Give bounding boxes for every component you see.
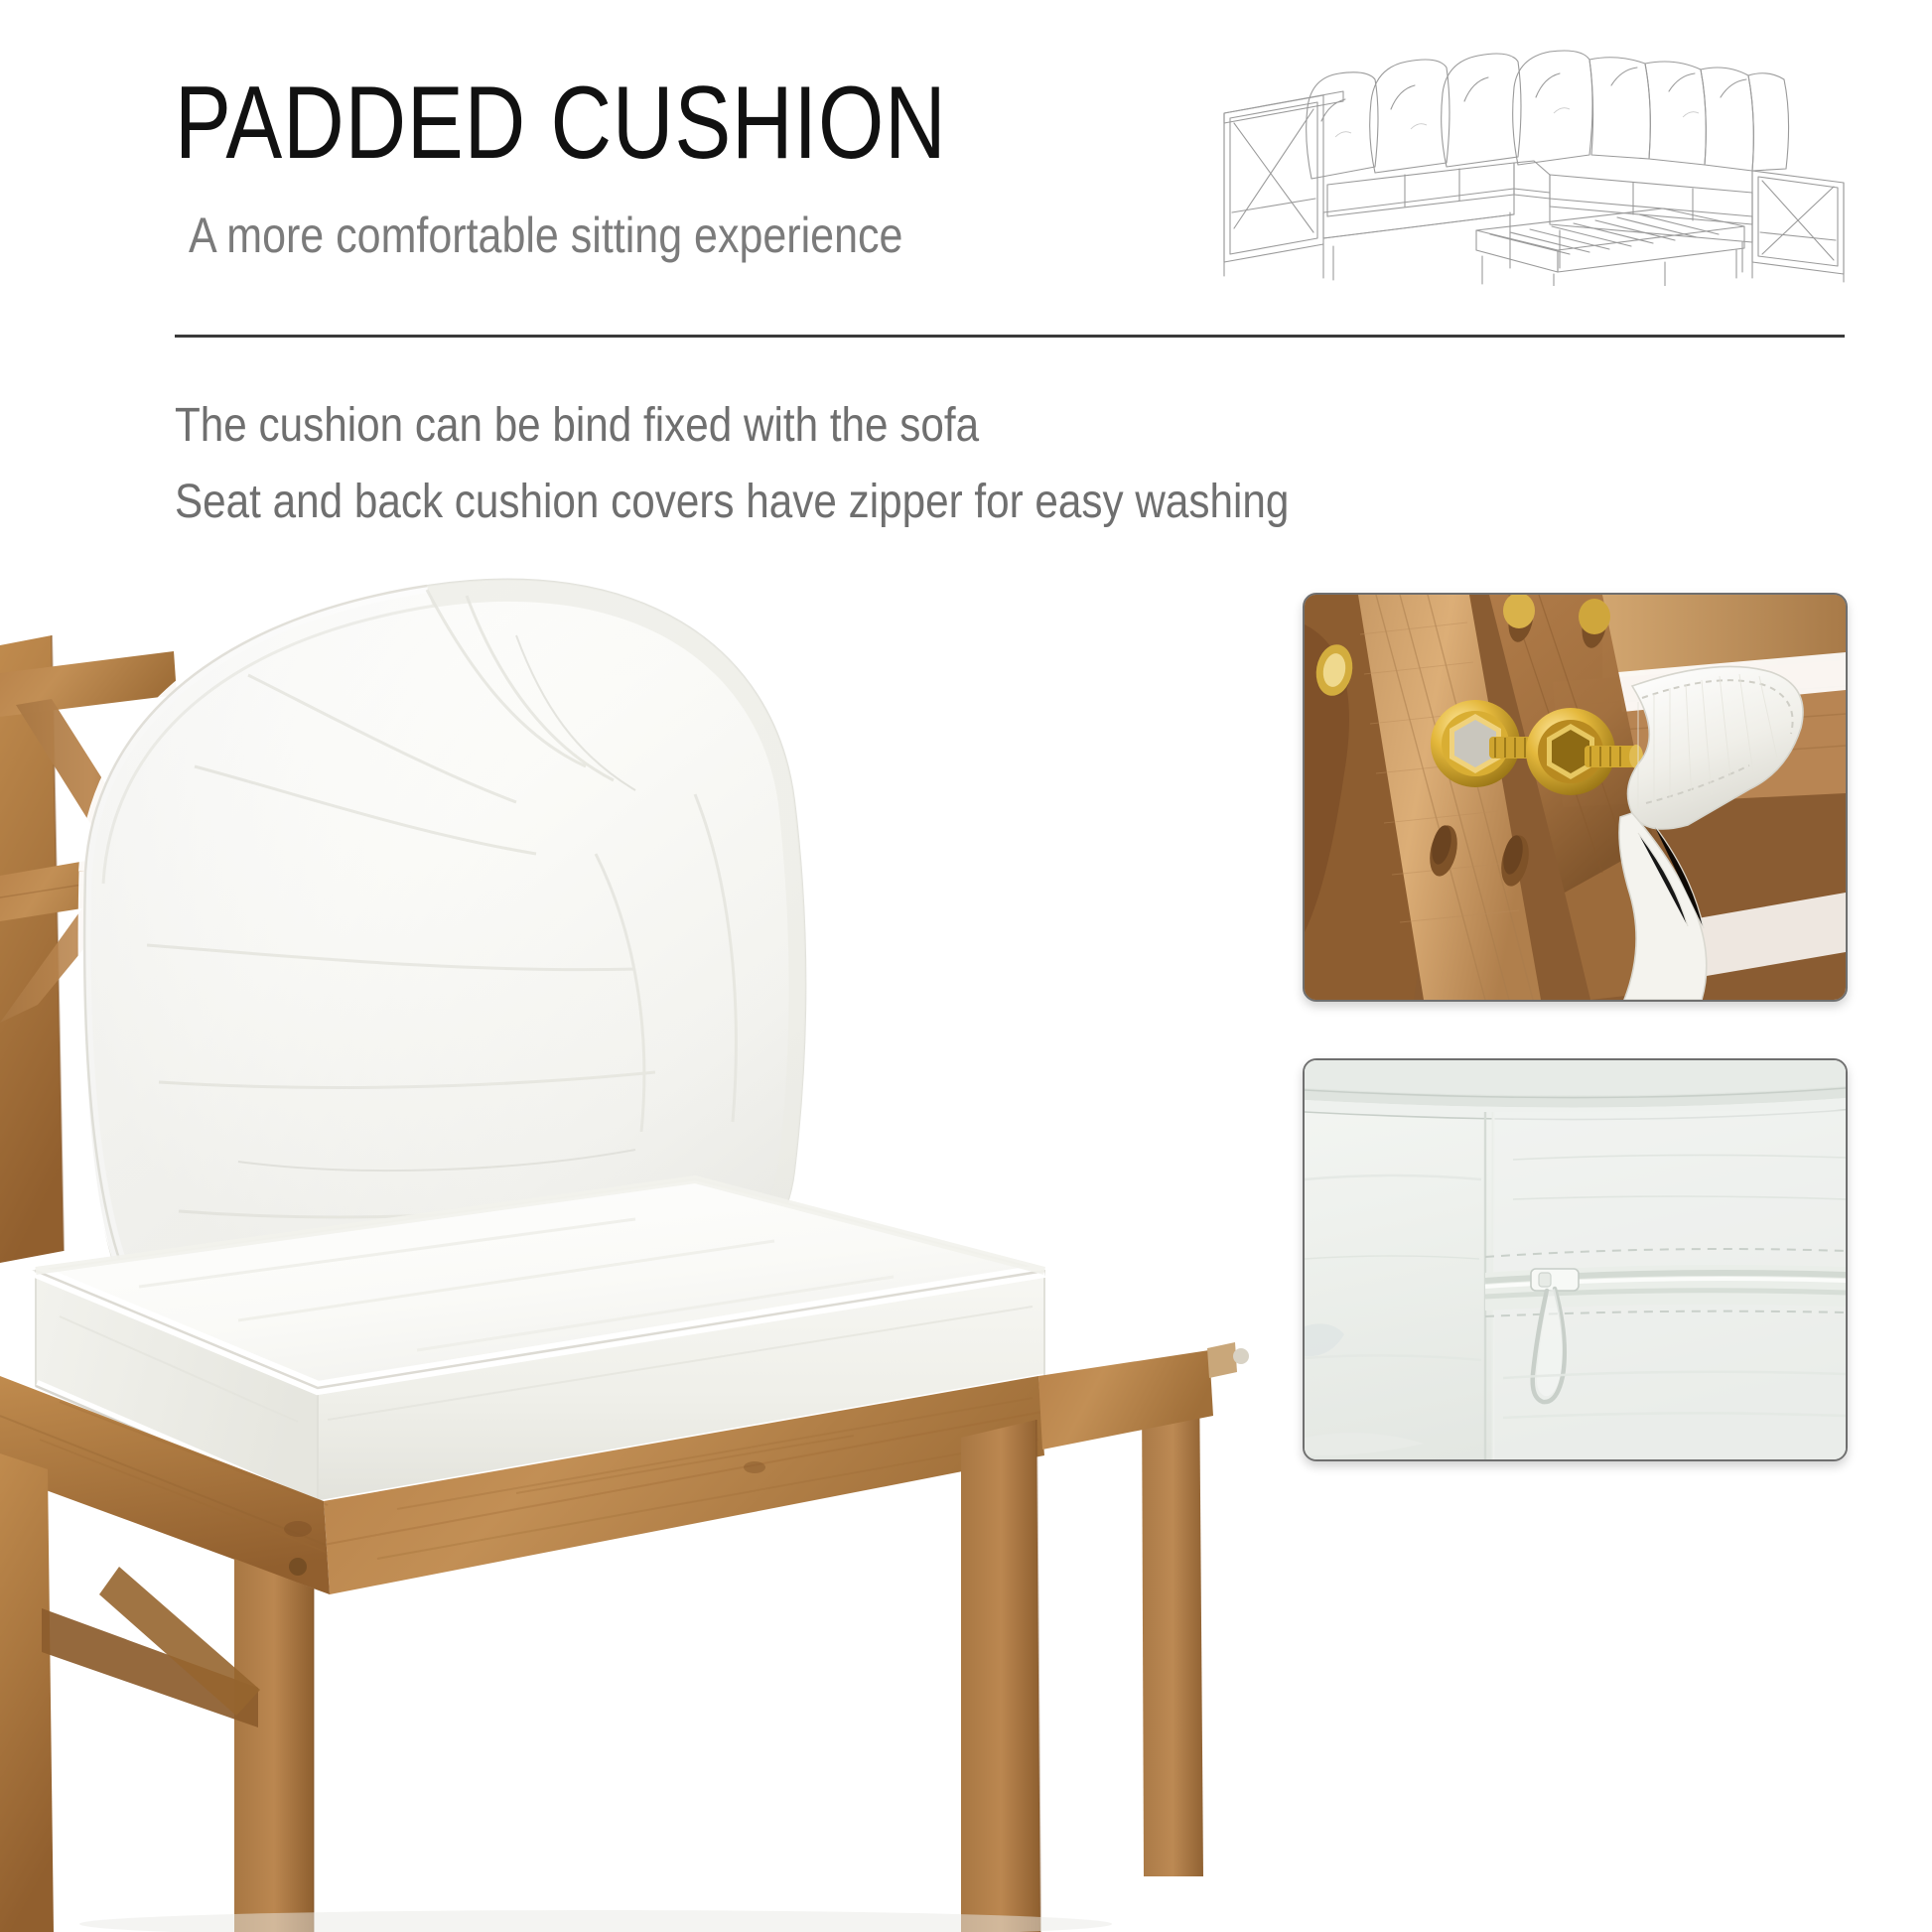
feature-list: The cushion can be bind fixed with the s… <box>175 397 1565 549</box>
sofa-sketch-illustration: Line drawing of L-shaped sectional sofa … <box>1216 18 1852 286</box>
inset-bottom-alt: Close-up of white cushion cover zipper w… <box>1305 1060 1306 1061</box>
inset-top-alt: Close-up of wooden frame bolted joint wi… <box>1305 595 1306 596</box>
header-block: PADDED CUSHION A more comfortable sittin… <box>0 0 1932 357</box>
page-title: PADDED CUSHION <box>175 71 947 175</box>
inset-cushion-zipper: Close-up of white cushion cover zipper w… <box>1303 1058 1848 1461</box>
feature-line-2: Seat and back cushion covers have zipper… <box>175 474 1398 532</box>
feature-line-1: The cushion can be bind fixed with the s… <box>175 397 1398 456</box>
page-subtitle: A more comfortable sitting experience <box>189 210 902 260</box>
main-product-photo: White padded back cushion and seat cushi… <box>0 556 1291 1932</box>
header-divider <box>175 335 1845 338</box>
inset-frame-bolt-strap: Close-up of wooden frame bolted joint wi… <box>1303 593 1848 1002</box>
